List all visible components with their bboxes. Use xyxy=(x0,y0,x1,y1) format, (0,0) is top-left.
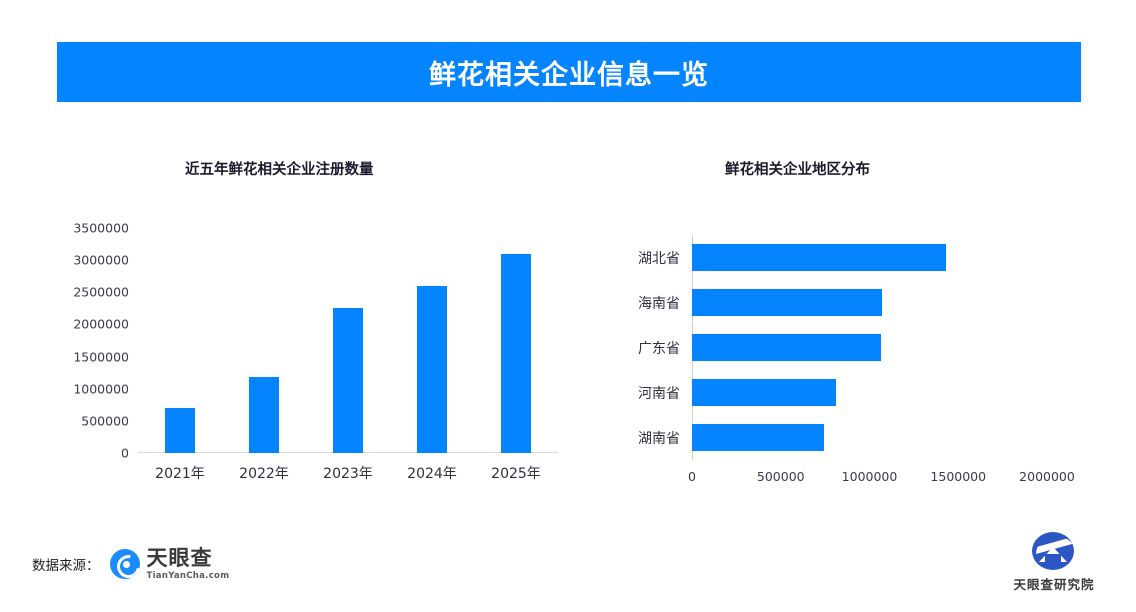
page-title: 鲜花相关企业信息一览 xyxy=(429,53,709,92)
x-axis-tick-label: 2000000 xyxy=(1019,469,1075,484)
tianyancha-name-en: TianYanCha.com xyxy=(147,572,230,581)
tianyancha-name-cn: 天眼查 xyxy=(147,548,230,569)
x-axis-tick-label: 0 xyxy=(688,469,696,484)
data-source-footer: 数据来源： 天眼查 TianYanCha.com xyxy=(32,548,229,581)
institute-icon-roof-cut xyxy=(1045,554,1061,563)
x-axis-tick-label: 2023年 xyxy=(323,463,373,483)
bar-广东省 xyxy=(692,334,881,361)
x-axis-tick-label: 500000 xyxy=(757,469,805,484)
y-axis-tick-label: 500000 xyxy=(81,413,129,428)
x-axis-tick-label: 2025年 xyxy=(491,463,541,483)
bar-湖南省 xyxy=(692,424,824,451)
tianyancha-eye-icon xyxy=(110,549,140,579)
bar-湖北省 xyxy=(692,244,946,271)
bar-2022年 xyxy=(249,377,279,453)
y-axis-tick-label: 1500000 xyxy=(73,349,129,364)
data-source-label: 数据来源： xyxy=(32,554,100,574)
bar-河南省 xyxy=(692,379,836,406)
category-tick-label: 广东省 xyxy=(638,338,680,358)
header-banner: 鲜花相关企业信息一览 xyxy=(57,42,1081,102)
category-tick-label: 湖南省 xyxy=(638,428,680,448)
horizontal-bar-plot-area: 湖北省海南省广东省河南省湖南省0500000100000015000002000… xyxy=(692,235,1047,460)
category-tick-label: 湖北省 xyxy=(638,248,680,268)
chart-title-right: 鲜花相关企业地区分布 xyxy=(725,158,870,179)
y-axis-tick-label: 1000000 xyxy=(73,381,129,396)
chart-title-left: 近五年鲜花相关企业注册数量 xyxy=(185,158,374,179)
y-axis-tick-label: 2000000 xyxy=(73,317,129,332)
institute-mountain-icon xyxy=(1028,530,1080,570)
tianyancha-logo: 天眼查 TianYanCha.com xyxy=(110,548,230,581)
y-axis-tick-label: 3000000 xyxy=(73,253,129,268)
x-axis-tick-label: 2024年 xyxy=(407,463,457,483)
y-axis-tick-label: 2500000 xyxy=(73,285,129,300)
bar-2024年 xyxy=(417,286,447,453)
y-axis-tick-label: 0 xyxy=(121,446,129,461)
chart-panel-region-distribution: 鲜花相关企业地区分布 湖北省海南省广东省河南省湖南省05000001000000… xyxy=(600,150,1100,500)
bar-2025年 xyxy=(501,254,531,453)
bar-2021年 xyxy=(165,408,195,453)
x-axis-tick-label: 2022年 xyxy=(239,463,289,483)
bar-2023年 xyxy=(333,308,363,453)
vertical-bar-plot-area: 0500000100000015000002000000250000030000… xyxy=(138,228,558,453)
chart-panel-registrations: 近五年鲜花相关企业注册数量 05000001000000150000020000… xyxy=(60,150,580,500)
institute-footer: 天眼查研究院 xyxy=(1000,530,1108,593)
category-tick-label: 海南省 xyxy=(638,293,680,313)
x-axis-tick-label: 1000000 xyxy=(842,469,898,484)
category-tick-label: 河南省 xyxy=(638,383,680,403)
x-axis-tick-label: 1500000 xyxy=(930,469,986,484)
institute-name: 天眼查研究院 xyxy=(1013,574,1094,593)
infographic-page: 鲜花相关企业信息一览 近五年鲜花相关企业注册数量 050000010000001… xyxy=(0,0,1136,612)
tianyancha-wordmark: 天眼查 TianYanCha.com xyxy=(147,548,230,581)
bar-海南省 xyxy=(692,289,882,316)
x-axis-tick-label: 2021年 xyxy=(155,463,205,483)
y-axis-tick-label: 3500000 xyxy=(73,221,129,236)
